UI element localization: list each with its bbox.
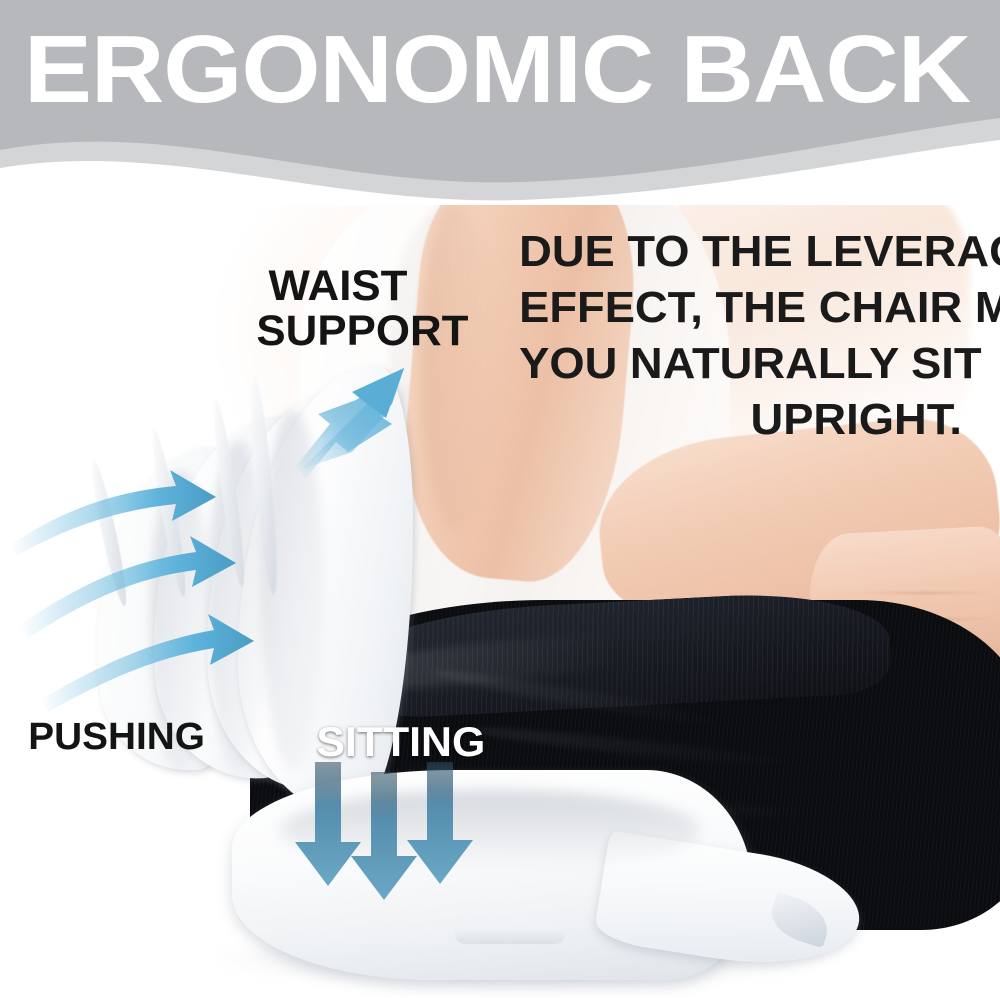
product-infographic: ERGONOMIC BACK SUPPORT WAIST SUPPORT PUS… [0, 0, 1000, 998]
waist-support-label: WAIST SUPPORT [256, 264, 419, 354]
description-line-2: EFFECT, THE CHAIR MAKES [519, 280, 962, 336]
waist-support-line-1: WAIST [256, 264, 419, 309]
description-line-1: DUE TO THE LEVERAGE [519, 224, 962, 280]
page-title: ERGONOMIC BACK SUPPORT [24, 22, 1000, 118]
description-line-3: YOU NATURALLY SIT [519, 336, 962, 392]
pushing-label: PUSHING [28, 718, 205, 758]
header-banner: ERGONOMIC BACK SUPPORT [0, 0, 1000, 205]
waist-support-line-2: SUPPORT [256, 309, 419, 354]
description-paragraph: DUE TO THE LEVERAGE EFFECT, THE CHAIR MA… [519, 224, 962, 448]
seat-inner-shadow [280, 790, 700, 870]
sitting-label: SITTING [316, 720, 485, 764]
arm-shading [420, 200, 490, 530]
finger-crease-1 [860, 592, 990, 594]
seat-foot-pad [455, 928, 565, 944]
description-line-4: UPRIGHT. [519, 392, 962, 448]
